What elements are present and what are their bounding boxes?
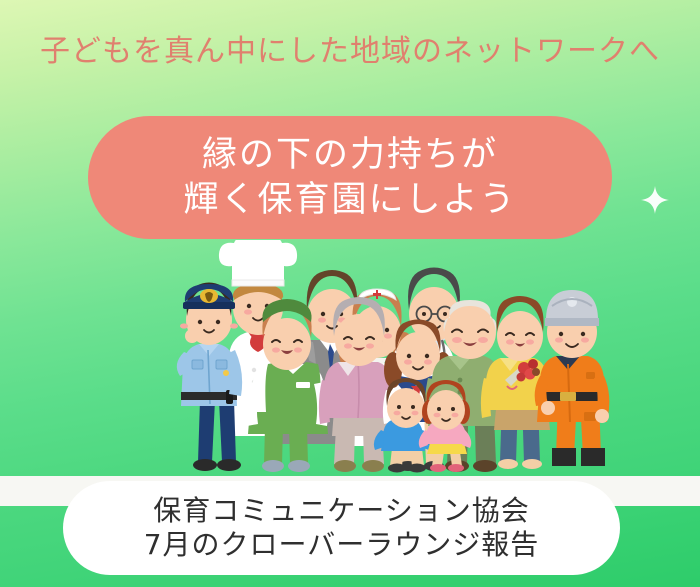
main-banner: 縁の下の力持ちが 輝く保育園にしよう (88, 116, 612, 239)
figure-rescue-worker (535, 290, 610, 466)
footer-banner: 保育コミュニケーション協会 7月のクローバーラウンジ報告 (63, 481, 620, 575)
page-title: 子どもを真ん中にした地域のネットワークへ (0, 26, 700, 70)
community-people-illustration (0, 240, 700, 490)
main-banner-line-2: 輝く保育園にしよう (183, 178, 516, 223)
footer-banner-line-1: 保育コミュニケーション協会 (153, 494, 529, 528)
main-banner-line-1: 縁の下の力持ちが (202, 133, 498, 178)
figure-police-officer (177, 283, 242, 472)
sparkle-icon (640, 185, 670, 215)
footer-banner-line-2: 7月のクローバーラウンジ報告 (144, 528, 540, 562)
poster-canvas: 子どもを真ん中にした地域のネットワークへ 縁の下の力持ちが 輝く保育園にしよう (0, 0, 700, 587)
